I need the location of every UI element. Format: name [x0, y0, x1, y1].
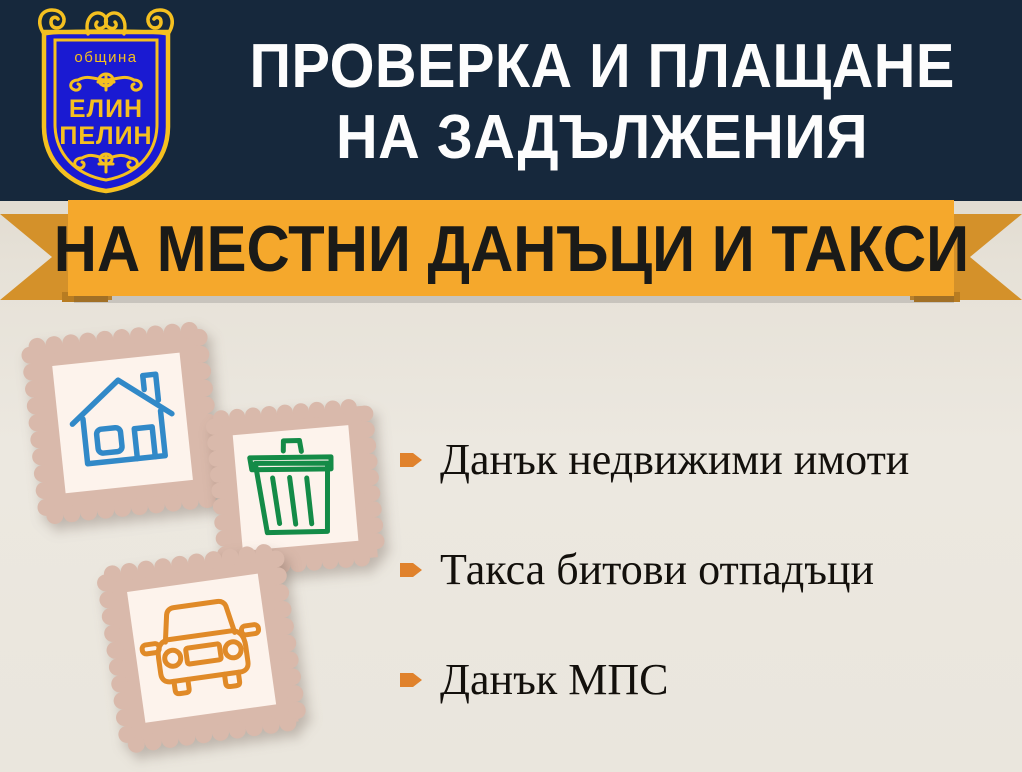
arrow-bullet-icon: [398, 667, 424, 693]
header-title-line2: НА ЗАДЪЛЖЕНИЯ: [336, 108, 868, 169]
list-item[interactable]: Такса битови отпадъци: [398, 535, 1018, 605]
crest-text-pelin: ПЕЛИН: [59, 122, 152, 150]
stamp-card-vehicle: [88, 534, 318, 769]
ribbon-shadow: [74, 296, 954, 303]
list-item[interactable]: Данък недвижими имоти: [398, 425, 1018, 495]
tax-services-list: Данък недвижими имоти Такса битови отпад…: [398, 425, 1018, 715]
header-bar: община ЕЛИН ПЕЛИН: [0, 0, 1022, 201]
ribbon-text: НА МЕСТНИ ДАНЪЦИ И ТАКСИ: [53, 211, 968, 286]
header-title: ПРОВЕРКА И ПЛАЩАНЕ НА ЗАДЪЛЖЕНИЯ: [190, 20, 1014, 185]
subtitle-ribbon: НА МЕСТНИ ДАНЪЦИ И ТАКСИ: [0, 196, 1022, 308]
list-item[interactable]: Данък МПС: [398, 645, 1018, 715]
elin-pelin-municipality-crest: община ЕЛИН ПЕЛИН: [26, 4, 186, 197]
list-item-label: Такса битови отпадъци: [440, 548, 874, 592]
poster-canvas: община ЕЛИН ПЕЛИН: [0, 0, 1022, 772]
ribbon-banner: НА МЕСТНИ ДАНЪЦИ И ТАКСИ: [68, 200, 954, 296]
list-item-label: Данък МПС: [440, 658, 668, 702]
crest-text-obshtina: община: [74, 49, 137, 66]
arrow-bullet-icon: [398, 447, 424, 473]
crest-text-elin: ЕЛИН: [69, 95, 143, 123]
header-title-line1: ПРОВЕРКА И ПЛАЩАНЕ: [249, 37, 954, 98]
arrow-bullet-icon: [398, 557, 424, 583]
list-item-label: Данък недвижими имоти: [440, 438, 909, 482]
